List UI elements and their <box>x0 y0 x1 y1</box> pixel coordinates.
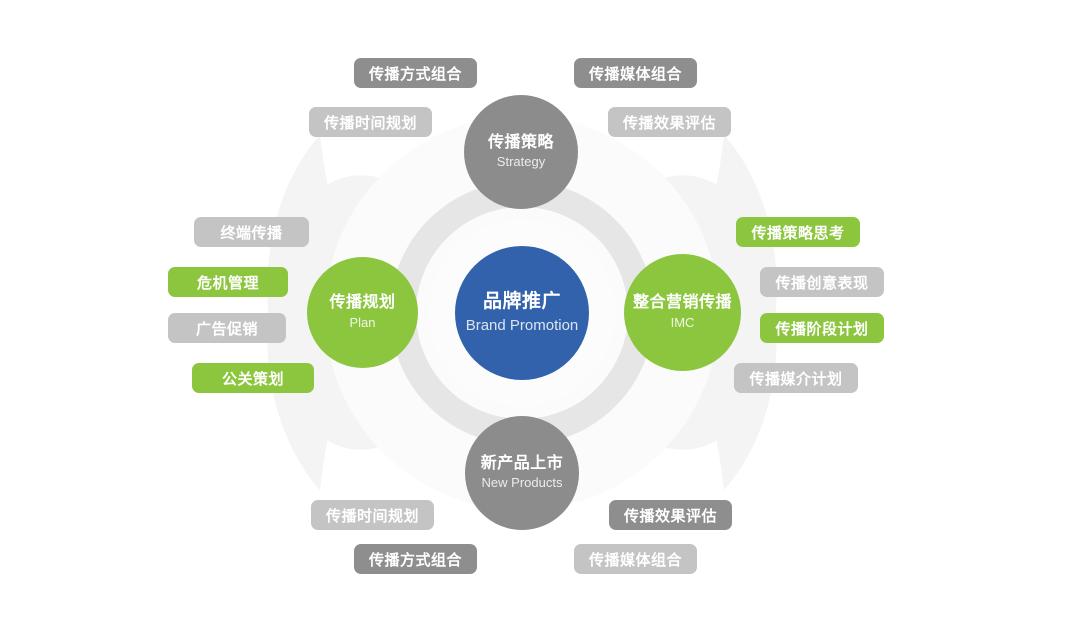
label-left-crisis-management[interactable]: 危机管理 <box>168 267 288 297</box>
hub-imc[interactable]: 整合营销传播 IMC <box>624 254 741 371</box>
hub-plan-title-cn: 传播规划 <box>329 294 395 312</box>
hub-brand-promotion[interactable]: 品牌推广 Brand Promotion <box>455 246 589 380</box>
label-top-right-inner[interactable]: 传播效果评估 <box>608 107 731 137</box>
hub-plan-title-en: Plan <box>349 316 375 331</box>
label-right-phase-plan[interactable]: 传播阶段计划 <box>760 313 884 343</box>
label-right-media-plan[interactable]: 传播媒介计划 <box>734 363 858 393</box>
label-bottom-right-outer[interactable]: 传播媒体组合 <box>574 544 697 574</box>
label-top-right-outer[interactable]: 传播媒体组合 <box>574 58 697 88</box>
hub-plan[interactable]: 传播规划 Plan <box>307 257 418 368</box>
hub-strategy[interactable]: 传播策略 Strategy <box>464 95 578 209</box>
hub-new-products[interactable]: 新产品上市 New Products <box>465 416 579 530</box>
label-left-advertising-promotion[interactable]: 广告促销 <box>168 313 286 343</box>
hub-new-products-title-cn: 新产品上市 <box>481 455 564 473</box>
label-bottom-left-outer[interactable]: 传播方式组合 <box>354 544 477 574</box>
label-left-pr-planning[interactable]: 公关策划 <box>192 363 314 393</box>
hub-center-title-en: Brand Promotion <box>466 317 579 334</box>
diagram-canvas: 品牌推广 Brand Promotion 传播策略 Strategy 传播规划 … <box>0 0 1080 631</box>
hub-new-products-title-en: New Products <box>482 476 563 491</box>
hub-strategy-title-en: Strategy <box>497 155 545 170</box>
label-top-left-inner[interactable]: 传播时间规划 <box>309 107 432 137</box>
hub-center-title-cn: 品牌推广 <box>483 291 561 313</box>
label-left-terminal-comm[interactable]: 终端传播 <box>194 217 309 247</box>
label-bottom-right-inner[interactable]: 传播效果评估 <box>609 500 732 530</box>
label-bottom-left-inner[interactable]: 传播时间规划 <box>311 500 434 530</box>
hub-imc-title-cn: 整合营销传播 <box>633 294 732 312</box>
hub-imc-title-en: IMC <box>671 316 695 331</box>
label-right-creative-expression[interactable]: 传播创意表现 <box>760 267 884 297</box>
label-right-strategy-thinking[interactable]: 传播策略思考 <box>736 217 860 247</box>
label-top-left-outer[interactable]: 传播方式组合 <box>354 58 477 88</box>
hub-strategy-title-cn: 传播策略 <box>488 134 554 152</box>
